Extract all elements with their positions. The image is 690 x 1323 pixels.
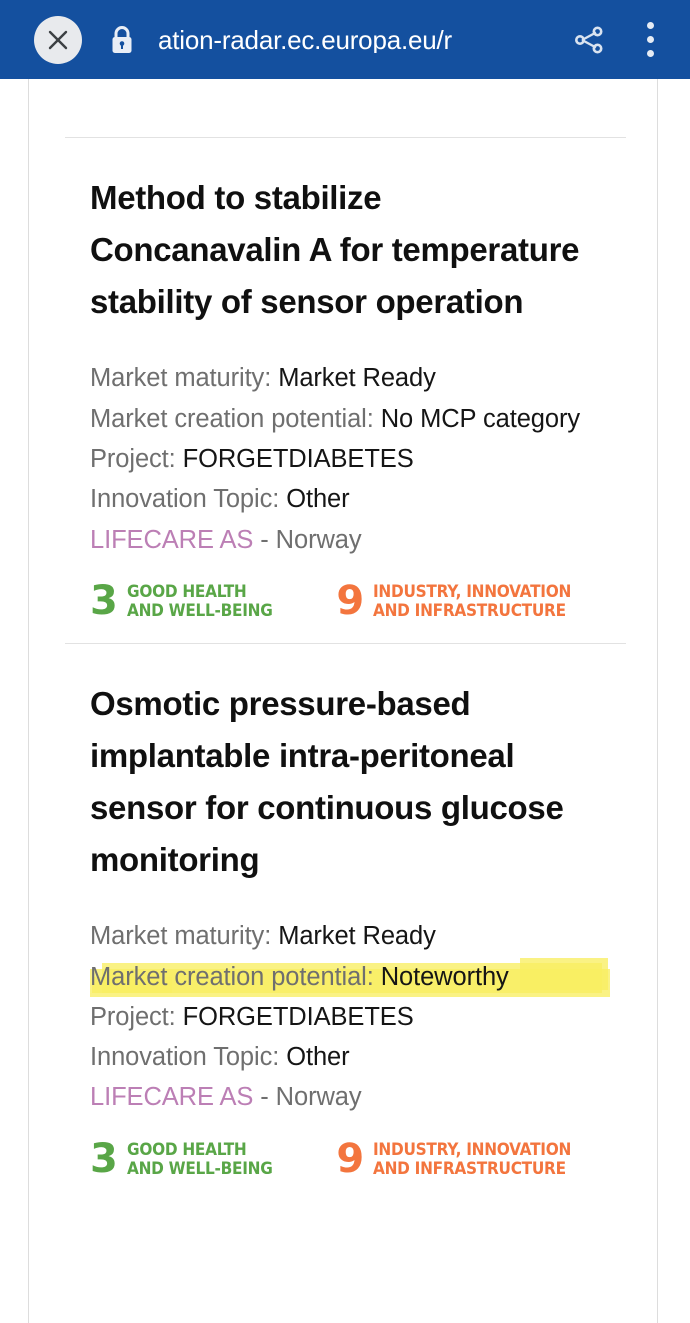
sdg-label-line2: AND INFRASTRUCTURE — [373, 601, 571, 620]
result-metadata: Market maturity: Market Ready Market cre… — [90, 916, 627, 1117]
result-card[interactable]: Method to stabilize Concanavalin A for t… — [29, 137, 657, 643]
overflow-menu-icon — [647, 22, 654, 29]
meta-label: Project: — [90, 1003, 176, 1031]
sdg-label: INDUSTRY, INNOVATION AND INFRASTRUCTURE — [373, 582, 571, 621]
sdg-number: 3 — [90, 583, 118, 619]
meta-row-project: Project: FORGETDIABETES — [90, 439, 627, 479]
meta-value: Market Ready — [278, 922, 436, 950]
sdg-label: INDUSTRY, INNOVATION AND INFRASTRUCTURE — [373, 1140, 571, 1179]
site-security-indicator[interactable] — [108, 23, 136, 57]
share-button[interactable] — [566, 17, 612, 63]
browser-toolbar: ation-radar.ec.europa.eu/r — [0, 0, 690, 79]
sdg-number: 3 — [90, 1141, 118, 1177]
organisation-country: Norway — [276, 1083, 362, 1111]
meta-row-project: Project: FORGETDIABETES — [90, 997, 627, 1037]
sdg-label-line2: AND WELL-BEING — [127, 1159, 273, 1178]
organisation-row: LIFECARE AS - Norway — [90, 520, 627, 560]
meta-row-market-creation-potential: Market creation potential: Noteworthy — [90, 957, 627, 997]
sdg-label-line1: INDUSTRY, INNOVATION — [373, 582, 571, 601]
meta-row-market-maturity: Market maturity: Market Ready — [90, 916, 627, 956]
result-title[interactable]: Method to stabilize Concanavalin A for t… — [90, 172, 600, 328]
meta-value: Other — [286, 1043, 349, 1071]
overflow-menu-icon-dot — [647, 36, 654, 43]
overflow-menu-icon-dot — [647, 50, 654, 57]
webpage-viewport: Method to stabilize Concanavalin A for t… — [0, 79, 690, 1323]
meta-label: Market creation potential: — [90, 963, 374, 991]
meta-label: Innovation Topic: — [90, 485, 279, 513]
highlight-stroke — [520, 958, 608, 990]
meta-value: Other — [286, 485, 349, 513]
organisation-separator: - — [253, 526, 275, 554]
sdg-label: GOOD HEALTH AND WELL-BEING — [127, 582, 273, 621]
sdg-label: GOOD HEALTH AND WELL-BEING — [127, 1140, 273, 1179]
result-title[interactable]: Osmotic pressure-based implantable intra… — [90, 678, 627, 887]
meta-label: Project: — [90, 445, 176, 473]
sdg-badge-9: 9 INDUSTRY, INNOVATION AND INFRASTRUCTUR… — [336, 582, 586, 621]
overflow-menu-button[interactable] — [630, 17, 670, 63]
meta-label: Market maturity: — [90, 922, 271, 950]
result-metadata: Market maturity: Market Ready Market cre… — [90, 358, 627, 559]
sdg-label-line1: INDUSTRY, INNOVATION — [373, 1140, 571, 1159]
close-icon — [45, 27, 71, 53]
organisation-link[interactable]: LIFECARE AS — [90, 1083, 253, 1111]
meta-row-market-maturity: Market maturity: Market Ready — [90, 358, 627, 398]
page-border-right — [657, 79, 658, 1323]
sdg-number: 9 — [336, 583, 364, 619]
meta-row-innovation-topic: Innovation Topic: Other — [90, 479, 627, 519]
sdg-label-line2: AND INFRASTRUCTURE — [373, 1159, 571, 1178]
sdg-badge-3: 3 GOOD HEALTH AND WELL-BEING — [90, 582, 283, 621]
share-icon — [571, 22, 607, 58]
close-button[interactable] — [34, 16, 82, 64]
meta-label: Innovation Topic: — [90, 1043, 279, 1071]
meta-row-market-creation-potential: Market creation potential: No MCP catego… — [90, 399, 627, 439]
sdg-label-line1: GOOD HEALTH — [127, 1140, 273, 1159]
meta-value-highlighted: Noteworthy — [381, 963, 509, 991]
organisation-separator: - — [253, 1083, 275, 1111]
url-bar[interactable]: ation-radar.ec.europa.eu/r — [158, 27, 558, 53]
organisation-row: LIFECARE AS - Norway — [90, 1077, 627, 1117]
sdg-badge-row: 3 GOOD HEALTH AND WELL-BEING 9 INDUSTRY,… — [90, 1140, 627, 1179]
result-card[interactable]: Osmotic pressure-based implantable intra… — [29, 643, 657, 1201]
meta-value: FORGETDIABETES — [183, 1003, 414, 1031]
organisation-country: Norway — [276, 526, 362, 554]
results-list: Method to stabilize Concanavalin A for t… — [29, 79, 657, 1201]
meta-value: No MCP category — [381, 405, 580, 433]
sdg-badge-row: 3 GOOD HEALTH AND WELL-BEING 9 INDUSTRY,… — [90, 582, 627, 621]
meta-label: Market creation potential: — [90, 405, 374, 433]
organisation-link[interactable]: LIFECARE AS — [90, 526, 253, 554]
meta-row-innovation-topic: Innovation Topic: Other — [90, 1037, 627, 1077]
meta-value: FORGETDIABETES — [183, 445, 414, 473]
sdg-label-line1: GOOD HEALTH — [127, 582, 273, 601]
sdg-badge-9: 9 INDUSTRY, INNOVATION AND INFRASTRUCTUR… — [336, 1140, 586, 1179]
lock-icon — [108, 23, 136, 57]
sdg-label-line2: AND WELL-BEING — [127, 601, 273, 620]
sdg-badge-3: 3 GOOD HEALTH AND WELL-BEING — [90, 1140, 283, 1179]
meta-label: Market maturity: — [90, 364, 271, 392]
meta-value: Market Ready — [278, 364, 436, 392]
sdg-number: 9 — [336, 1141, 364, 1177]
